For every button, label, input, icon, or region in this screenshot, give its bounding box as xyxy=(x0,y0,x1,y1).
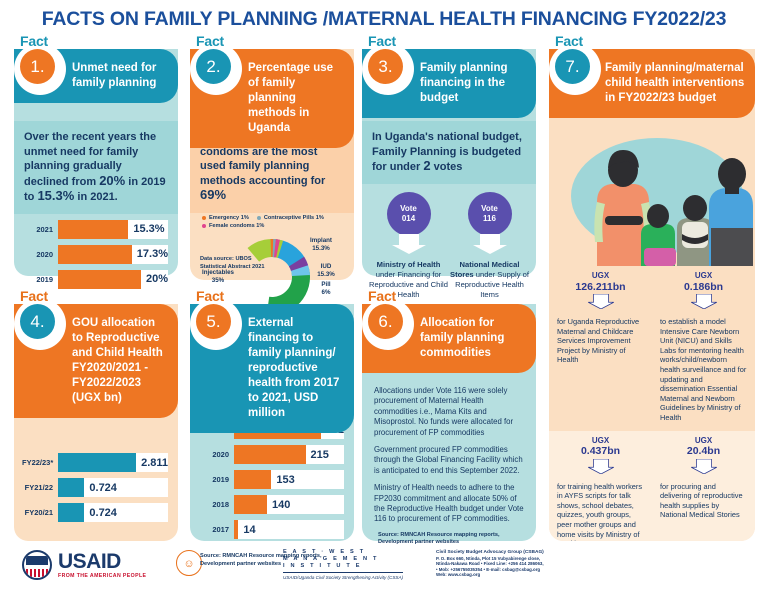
fact-body-7: UGX 126.211bn for Uganda Reproductive Ma… xyxy=(549,49,755,541)
vote-word: Vote xyxy=(400,204,417,214)
amount-value: 0.186bn xyxy=(684,281,723,293)
legend-swatch-icon xyxy=(202,216,206,220)
vote-code: 014 xyxy=(402,214,415,224)
fact6-paragraph: Government procured FP commodities throu… xyxy=(362,445,536,476)
page-title: FACTS ON FAMILY PLANNING /MATERNAL HEALT… xyxy=(0,8,768,31)
table-row: FY22/23* 2.811 xyxy=(22,453,168,472)
donut-value-text: 35% xyxy=(212,277,224,284)
vote-circle: Vote 116 xyxy=(468,192,512,236)
bar-category: 2017 xyxy=(198,525,234,534)
fact7-amount: UGX 0.186bn xyxy=(660,271,747,293)
bar-value: 215 xyxy=(306,449,329,461)
table-row: FY20/21 0.724 xyxy=(22,503,168,522)
bar-value: 140 xyxy=(267,499,290,511)
fact7-desc: to establish a model Intensive Care Newb… xyxy=(660,317,747,423)
bar-track: 2.811 xyxy=(58,453,168,472)
address-line-4: Web: www.csbag.org xyxy=(436,572,544,578)
legend-swatch-icon xyxy=(257,216,261,220)
table-row: FY21/22 0.724 xyxy=(22,478,168,497)
fact-label-4: Fact xyxy=(20,288,48,304)
fact-number-4: 4. xyxy=(20,304,55,339)
vote-circle: Vote 014 xyxy=(387,192,431,236)
bar-value: 2.811 xyxy=(136,457,168,469)
bar-track: 20% xyxy=(58,270,168,289)
bar-fill xyxy=(234,470,271,489)
fact-number-7: 7. xyxy=(555,49,590,84)
bar-track: 0.724 xyxy=(58,478,168,497)
usaid-logo: USAID FROM THE AMERICAN PEOPLE xyxy=(22,550,146,580)
legend-row-1: Emergency 1% Contraceptive Pills 1% xyxy=(202,215,344,221)
fact7-item: UGX 126.211bn for Uganda Reproductive Ma… xyxy=(549,266,652,431)
bar-category: 2019 xyxy=(198,475,234,484)
down-arrow-icon xyxy=(660,294,747,314)
bar-category: 2018 xyxy=(198,500,234,509)
table-row: 2020 17.3% xyxy=(22,245,168,264)
fact-label-7: Fact xyxy=(555,33,583,49)
bar-fill xyxy=(234,495,267,514)
bar-track: 15.3% xyxy=(58,220,168,239)
fact-label-5: Fact xyxy=(196,288,224,304)
down-arrow-icon xyxy=(368,234,449,259)
table-row: 2018 140 xyxy=(198,495,344,514)
donut-label-implant: Implant 15.3% xyxy=(296,237,346,253)
bar-category: 2020 xyxy=(22,250,58,259)
fact7-amount: UGX 126.211bn xyxy=(557,271,644,293)
bar-value: 0.724 xyxy=(84,482,117,494)
legend-swatch-icon xyxy=(202,224,206,228)
fact7-desc: for Uganda Reproductive Maternal and Chi… xyxy=(557,317,644,365)
down-arrow-icon xyxy=(660,459,747,479)
amount-value: 126.211bn xyxy=(575,281,625,293)
fact-label-2: Fact xyxy=(196,33,224,49)
vote-item-116: Vote 116 National Medical Stores under S… xyxy=(449,192,530,300)
fact-label-6: Fact xyxy=(368,288,396,304)
vote-group: Vote 014 Ministry of Health under Financ… xyxy=(362,184,536,304)
fact-card-5: Fact 5. External financing to family pla… xyxy=(190,288,354,541)
currency-label: UGX xyxy=(592,271,609,280)
fact3-intro-c: votes xyxy=(431,161,463,173)
fact6-source: Source: RMNCAH Resource mapping reports,… xyxy=(362,532,536,552)
bar-track: 14 xyxy=(234,520,344,539)
donut-value-text: 6% xyxy=(322,289,331,296)
fact5-source: Source: RMNCAH Resource mapping reports,… xyxy=(190,553,354,573)
fact7-row-1: UGX 126.211bn for Uganda Reproductive Ma… xyxy=(549,266,755,431)
fact7-desc: for training health workers in AYFS scri… xyxy=(557,482,644,541)
bar-fill xyxy=(58,503,84,522)
bar-fill xyxy=(58,270,141,289)
fact-number-3: 3. xyxy=(368,49,403,84)
legend-label: Contraceptive Pills 1% xyxy=(264,215,324,221)
fact-number-6: 6. xyxy=(368,304,403,339)
fact-card-2: Fact 2. Percentage use of family plannin… xyxy=(190,33,354,280)
table-row: 2020 215 xyxy=(198,445,344,464)
fact6-paragraph: Allocations under Vote 116 were solely p… xyxy=(362,386,536,438)
fact2-source: Data source: UBOS Statistical Abstract 2… xyxy=(190,256,278,276)
usaid-wordmark: USAID FROM THE AMERICAN PEOPLE xyxy=(58,551,146,579)
donut-legend: Emergency 1% Contraceptive Pills 1% Fema… xyxy=(190,213,354,229)
bar-category: 2019 xyxy=(22,275,58,284)
vote-code: 116 xyxy=(483,214,496,224)
vote-org: Ministry of Health xyxy=(377,260,441,269)
bar-fill xyxy=(58,453,136,472)
infographic-page: FACTS ON FAMILY PLANNING /MATERNAL HEALT… xyxy=(0,0,768,590)
bar-category: FY20/21 xyxy=(22,508,58,517)
bar-category: FY22/23* xyxy=(22,458,58,467)
usaid-name: USAID xyxy=(58,551,146,572)
fact-number-5: 5. xyxy=(196,304,231,339)
bar-fill xyxy=(58,478,84,497)
usaid-tagline: FROM THE AMERICAN PEOPLE xyxy=(58,574,146,579)
fact7-item: UGX 0.186bn to establish a model Intensi… xyxy=(652,266,755,431)
family-illustration xyxy=(549,124,755,266)
down-arrow-icon xyxy=(557,459,644,479)
currency-label: UGX xyxy=(695,271,712,280)
fact3-intro: In Uganda's national budget, Family Plan… xyxy=(362,121,536,184)
vote-word: Vote xyxy=(481,204,498,214)
fact-card-7: Fact 7. Family planning/maternal child h… xyxy=(549,33,755,541)
family-illustration-svg xyxy=(549,124,755,266)
table-row: 2021 15.3% xyxy=(22,220,168,239)
bar-fill xyxy=(58,245,132,264)
bar-fill xyxy=(58,220,128,239)
legend-item: Emergency 1% xyxy=(202,215,249,221)
legend-label: Female condoms 1% xyxy=(209,223,264,229)
bar-track: 215 xyxy=(234,445,344,464)
fact-card-1: Fact 1. Unmet need for family planning O… xyxy=(14,33,178,276)
legend-item: Female condoms 1% xyxy=(202,223,264,229)
fact6-paragraph: Ministry of Health needs to adhere to th… xyxy=(362,483,536,525)
bar-value: 153 xyxy=(271,474,294,486)
fact-label-3: Fact xyxy=(368,33,396,49)
fact-number-1: 1. xyxy=(20,49,55,84)
fact7-desc: for procuring and delivering of reproduc… xyxy=(660,482,747,520)
table-row: 2019 20% xyxy=(22,270,168,289)
bar-category: 2021 xyxy=(22,225,58,234)
fact-card-4: Fact 4. GOU allocation to Reproductive a… xyxy=(14,288,178,541)
currency-label: UGX xyxy=(695,436,712,445)
fact7-item: UGX 0.437bn for training health workers … xyxy=(549,431,652,541)
donut-label-text: IUD xyxy=(321,263,332,270)
legend-item: Contraceptive Pills 1% xyxy=(257,215,324,221)
fact7-row-2: UGX 0.437bn for training health workers … xyxy=(549,431,755,541)
bar-value: 14 xyxy=(238,524,255,536)
fact3-stat: 2 xyxy=(423,158,430,173)
fact1-stat-2: 15.3% xyxy=(37,188,74,203)
fact1-intro: Over the recent years the unmet need for… xyxy=(14,121,178,214)
amount-value: 20.4bn xyxy=(687,445,720,457)
fact1-stat-1: 20% xyxy=(99,173,125,188)
contact-address: Civil Society Budget Advocacy Group (CSB… xyxy=(436,550,544,578)
currency-label: UGX xyxy=(592,436,609,445)
bar-value: 17.3% xyxy=(132,248,168,260)
bar-category: 2020 xyxy=(198,450,234,459)
down-arrow-icon xyxy=(449,234,530,259)
address-line-2: Ntinda-Nakawa Road • Fixed Line: +256 41… xyxy=(436,561,544,567)
fact2-stat: 69% xyxy=(200,187,226,202)
fact-card-6: Fact 6. Allocation for family planning c… xyxy=(362,288,536,541)
fact7-item: UGX 20.4bn for procuring and delivering … xyxy=(652,431,755,541)
bar-track: 153 xyxy=(234,470,344,489)
table-row: 2019 153 xyxy=(198,470,344,489)
fact7-amount: UGX 20.4bn xyxy=(660,436,747,458)
bar-track: 140 xyxy=(234,495,344,514)
legend-row-2: Female condoms 1% xyxy=(202,223,344,229)
vote-desc: National Medical Stores under Supply of … xyxy=(449,260,530,300)
fact1-intro-d: in 2021. xyxy=(74,191,117,203)
fact7-amount: UGX 0.437bn xyxy=(557,436,644,458)
donut-value-text: 15.3% xyxy=(312,245,330,252)
table-row: 2017 14 xyxy=(198,520,344,539)
bar-value: 0.724 xyxy=(84,507,117,519)
ewmi-subtitle: USAID/Uganda Civil Society Strengthening… xyxy=(283,575,403,581)
fact4-bar-chart: FY22/23* 2.811 FY21/22 0.724 FY20/21 xyxy=(14,429,178,536)
amount-value: 0.437bn xyxy=(581,445,620,457)
fact-label-1: Fact xyxy=(20,33,48,49)
bar-category: FY21/22 xyxy=(22,483,58,492)
donut-label-pill: Pill 6% xyxy=(310,281,342,297)
legend-label: Emergency 1% xyxy=(209,215,249,221)
bar-fill xyxy=(234,445,306,464)
down-arrow-icon xyxy=(557,294,644,314)
donut-label-text: Pill xyxy=(321,281,330,288)
bar-value: 15.3% xyxy=(128,223,164,235)
donut-label-text: Implant xyxy=(310,237,332,244)
donut-value-text: 15.3% xyxy=(317,271,335,278)
bar-track: 17.3% xyxy=(58,245,168,264)
fact-number-2: 2. xyxy=(196,49,231,84)
usaid-seal-icon xyxy=(22,550,52,580)
bar-value: 20% xyxy=(141,273,168,285)
fact-card-3: Fact 3. Family planning financing in the… xyxy=(362,33,536,276)
donut-label-iud: IUD 15.3% xyxy=(308,263,344,279)
bar-track: 0.724 xyxy=(58,503,168,522)
vote-item-014: Vote 014 Ministry of Health under Financ… xyxy=(368,192,449,300)
